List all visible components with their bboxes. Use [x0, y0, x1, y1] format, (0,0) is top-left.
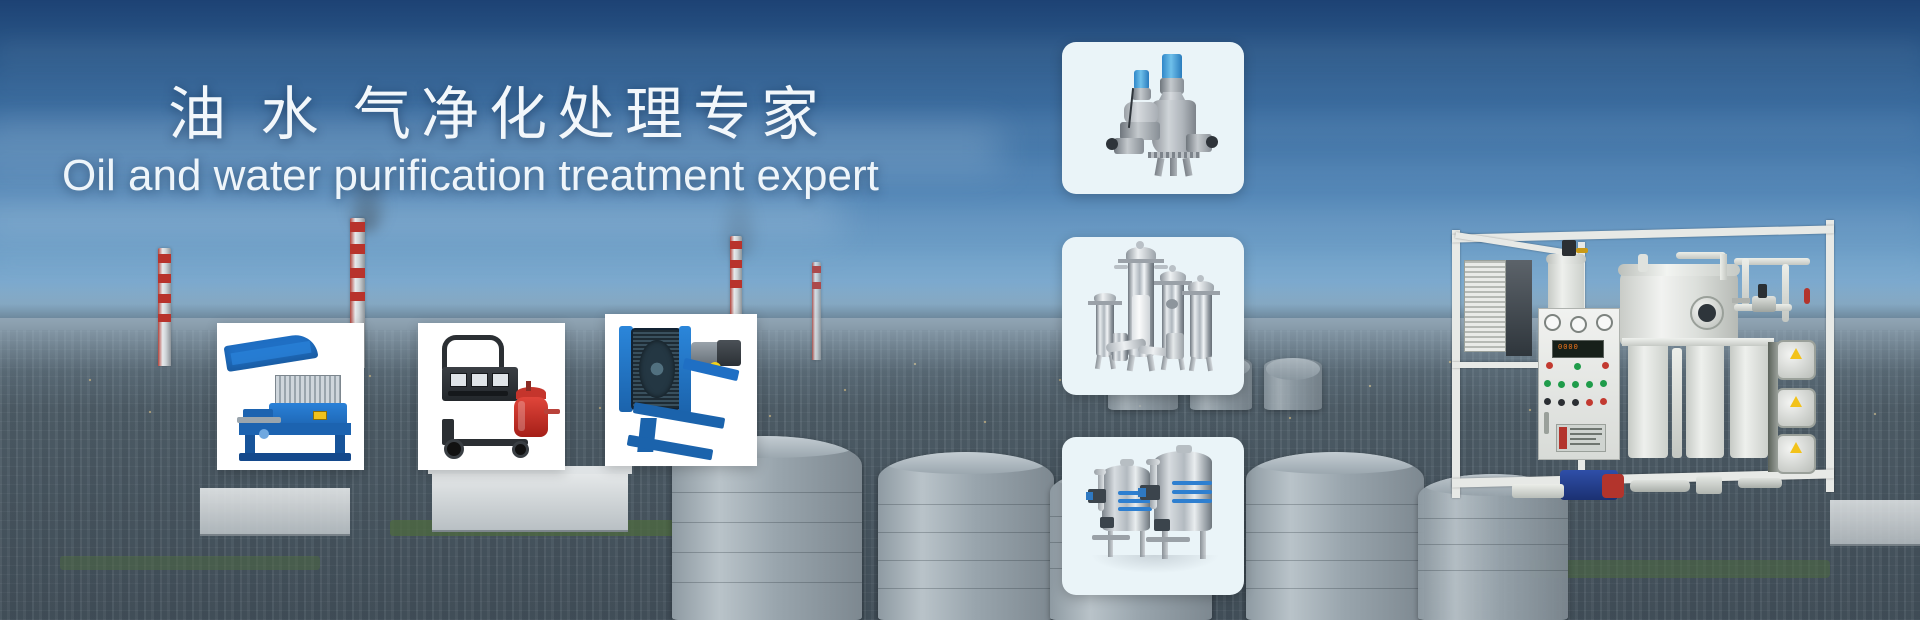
- lamp-green: [1574, 363, 1581, 370]
- louvre-panel: [1464, 260, 1506, 352]
- indicator-3: [1572, 381, 1579, 388]
- lamp-red-1: [1546, 362, 1553, 369]
- indicator-4: [1586, 381, 1593, 388]
- feature-machine-vacuum-oil-purifier-skid[interactable]: 0000: [1452, 212, 1882, 502]
- bottom-valve: [1696, 476, 1722, 494]
- nameplate-line: [1570, 428, 1602, 430]
- nameplate-line: [1570, 438, 1596, 440]
- red-marker: [1804, 288, 1810, 304]
- filter-cylinder-3: [1730, 342, 1768, 458]
- product-card-air-cooled-heat-exchanger-fan[interactable]: [605, 314, 757, 466]
- grass-strip: [60, 556, 320, 570]
- button-4[interactable]: [1586, 399, 1593, 406]
- suction-pipe: [1630, 480, 1690, 492]
- storage-tank-2: [878, 452, 1054, 620]
- panel-door-handle[interactable]: [1544, 412, 1549, 434]
- lamp-red-2: [1602, 362, 1609, 369]
- headline-english: Oil and water purification treatment exp…: [62, 152, 879, 200]
- product-card-plate-and-frame-filter-press[interactable]: [217, 323, 364, 470]
- manifold-spine: [1768, 342, 1778, 472]
- cooler-core: [1506, 260, 1532, 356]
- site-building-center: [200, 488, 350, 536]
- top-pipe-drop: [1720, 254, 1727, 280]
- product-card-mobile-oil-filtering-cart[interactable]: [418, 323, 565, 470]
- brass-fitting: [1576, 248, 1588, 253]
- indicator-1: [1544, 380, 1551, 387]
- button-5[interactable]: [1600, 398, 1607, 405]
- cloud-wisp: [0, 196, 840, 236]
- standpipe: [1672, 348, 1682, 458]
- filter-cylinder-1: [1628, 342, 1668, 458]
- headline-chinese: 油 水 气净化处理专家: [168, 86, 829, 144]
- product-card-vacuum-vessel-with-agitators[interactable]: [1062, 42, 1244, 194]
- pump-housing-red: [1602, 474, 1624, 498]
- manifold-head-3: [1776, 434, 1816, 474]
- inline-valve: [1752, 296, 1776, 312]
- button-2[interactable]: [1558, 399, 1565, 406]
- smokestack-left: [158, 248, 171, 366]
- hazard-triangle-icon: [1790, 348, 1802, 359]
- top-pipe: [1676, 252, 1726, 259]
- column-motor: [1562, 240, 1576, 256]
- pressure-gauge-2: [1570, 316, 1587, 333]
- button-3[interactable]: [1572, 399, 1579, 406]
- discharge-pipe: [1738, 478, 1782, 488]
- filter-cylinder-2: [1686, 342, 1724, 458]
- pressure-gauge-1: [1544, 314, 1561, 331]
- hazard-triangle-icon: [1790, 442, 1802, 453]
- smokestack-far: [812, 262, 821, 360]
- base-skid-beam: [1512, 484, 1564, 498]
- grass-strip: [1530, 560, 1830, 578]
- product-card-stainless-steel-filter-housings[interactable]: [1062, 237, 1244, 395]
- display-value: 0000: [1558, 344, 1579, 352]
- button-1[interactable]: [1544, 398, 1551, 405]
- valve-actuator: [1758, 284, 1767, 298]
- site-building-right: [1830, 500, 1920, 546]
- storage-tank-small: [1264, 358, 1322, 410]
- pressure-gauge-3: [1596, 314, 1613, 331]
- sight-glass: [1698, 304, 1716, 322]
- site-building-left: [432, 472, 628, 532]
- product-card-water-softener-pressure-tanks[interactable]: [1062, 437, 1244, 595]
- vessel-nozzle: [1638, 254, 1648, 272]
- hero-banner: 油 水 气净化处理专家 Oil and water purification t…: [0, 0, 1920, 620]
- hazard-triangle-icon: [1790, 396, 1802, 407]
- skid-frame-post: [1826, 220, 1834, 492]
- nameplate-logo: [1559, 427, 1567, 449]
- indicator-5: [1600, 380, 1607, 387]
- manifold-head-2: [1776, 388, 1816, 428]
- storage-tank-4: [1246, 452, 1424, 620]
- filter-manifold: [1622, 338, 1774, 346]
- cloud-band: [0, 40, 1920, 66]
- pipe-flange: [1732, 298, 1750, 303]
- indicator-2: [1558, 381, 1565, 388]
- manifold-head-1: [1776, 340, 1816, 380]
- nameplate-line: [1570, 443, 1600, 445]
- nameplate-line: [1570, 433, 1602, 435]
- process-pipe: [1782, 264, 1789, 322]
